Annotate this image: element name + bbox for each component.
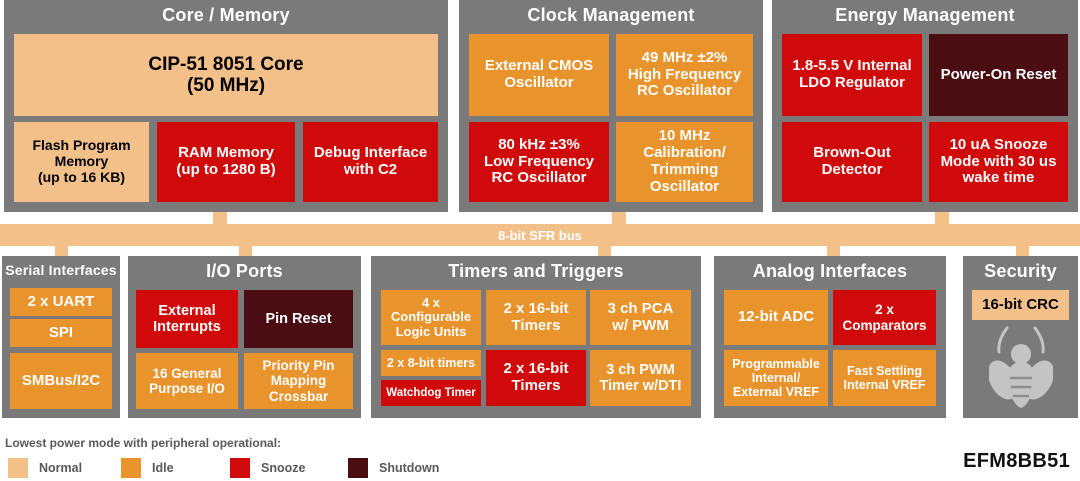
block-debug-interface-with-c2[interactable]: Debug Interfacewith C2 [303,122,438,202]
block-label: 80 kHz ±3%Low FrequencyRC Oscillator [484,137,594,187]
block-high-frequency-rc-oscillator[interactable]: 49 MHz ±2%High FrequencyRC Oscillator [616,34,753,116]
block-label: Debug Interfacewith C2 [314,145,427,179]
block-configurable-logic-units[interactable]: 4 xConfigurableLogic Units [381,290,481,345]
panel-io-ports: I/O Ports ExternalInterrupts Pin Reset 1… [128,256,361,418]
legend-item-normal: Normal [8,458,82,478]
block-label: Fast SettlingInternal VREF [844,364,926,392]
block-label: 16-bit CRC [982,297,1059,314]
block-external-cmos-oscillator[interactable]: External CMOSOscillator [469,34,609,116]
block-label: 2 x UART [28,294,95,311]
panel-title-serial-interfaces: Serial Interfaces [2,256,120,284]
block-label: 12-bit ADC [738,309,814,326]
panel-title-core-memory: Core / Memory [4,0,448,30]
block-label: CIP-51 8051 Core(50 MHz) [148,54,303,97]
block-label: Priority PinMappingCrossbar [262,358,334,403]
legend-label-idle: Idle [152,461,174,475]
block-label: Brown-OutDetector [813,145,890,179]
block-label: 3 ch PWMTimer w/DTI [600,362,682,394]
block-label: 16 GeneralPurpose I/O [149,366,225,396]
legend-swatch-normal [8,458,28,478]
block-2x-16bit-timers-snooze[interactable]: 2 x 16-bitTimers [486,350,586,406]
block-label: 2 x 16-bitTimers [503,361,568,395]
block-label: ProgrammableInternal/External VREF [732,357,820,399]
block-priority-pin-mapping-crossbar[interactable]: Priority PinMappingCrossbar [244,353,353,409]
block-label: 10 MHzCalibration/TrimmingOscillator [643,128,726,195]
block-label: 49 MHz ±2%High FrequencyRC Oscillator [628,50,741,100]
block-snooze-mode-wake-time[interactable]: 10 uA SnoozeMode with 30 uswake time [929,122,1068,202]
block-label: 4 xConfigurableLogic Units [391,296,471,340]
block-spi[interactable]: SPI [10,319,112,347]
legend-item-shutdown: Shutdown [348,458,439,478]
block-label: External CMOSOscillator [485,58,593,92]
block-12-bit-adc[interactable]: 12-bit ADC [724,290,828,345]
part-number: EFM8BB51 [963,450,1070,473]
block-internal-ldo-regulator[interactable]: 1.8-5.5 V InternalLDO Regulator [782,34,922,116]
block-label: Watchdog Timer [386,387,475,400]
block-pin-reset[interactable]: Pin Reset [244,290,353,348]
sfr-bus-label: 8-bit SFR bus [498,228,582,243]
panel-title-io-ports: I/O Ports [128,256,361,286]
block-3ch-pca-pwm[interactable]: 3 ch PCAw/ PWM [590,290,691,345]
legend-label-shutdown: Shutdown [379,461,439,475]
panel-title-clock-management: Clock Management [459,0,763,30]
block-calibration-trimming-oscillator[interactable]: 10 MHzCalibration/TrimmingOscillator [616,122,753,202]
block-2x-comparators[interactable]: 2 xComparators [833,290,936,345]
panel-title-security: Security [963,256,1078,286]
block-watchdog-timer[interactable]: Watchdog Timer [381,380,481,406]
block-3ch-pwm-timer-dti[interactable]: 3 ch PWMTimer w/DTI [590,350,691,406]
block-label: Flash ProgramMemory(up to 16 KB) [32,138,130,185]
block-label: SMBus/I2C [22,373,100,390]
sfr-bus: 8-bit SFR bus [0,224,1080,246]
block-2x-uart[interactable]: 2 x UART [10,288,112,316]
panel-serial-interfaces: Serial Interfaces 2 x UART SPI SMBus/I2C [2,256,120,418]
block-label: Power-On Reset [941,67,1057,84]
block-label: SPI [49,325,73,342]
panel-title-analog-interfaces: Analog Interfaces [714,256,946,286]
panel-timers-and-triggers: Timers and Triggers 4 xConfigurableLogic… [371,256,701,418]
bee-icon [989,326,1053,410]
legend-label-snooze: Snooze [261,461,305,475]
block-label: RAM Memory(up to 1280 B) [176,145,275,179]
block-low-frequency-rc-oscillator[interactable]: 80 kHz ±3%Low FrequencyRC Oscillator [469,122,609,202]
block-smbus-i2c[interactable]: SMBus/I2C [10,353,112,409]
panel-core-memory: Core / Memory CIP-51 8051 Core(50 MHz) F… [4,0,448,212]
panel-title-timers-and-triggers: Timers and Triggers [371,256,701,286]
block-label: 1.8-5.5 V InternalLDO Regulator [792,58,911,92]
legend-item-idle: Idle [121,458,174,478]
block-label: 2 x 16-bitTimers [503,301,568,335]
legend-swatch-snooze [230,458,250,478]
block-external-interrupts[interactable]: ExternalInterrupts [136,290,238,348]
legend-item-snooze: Snooze [230,458,305,478]
block-16-general-purpose-io[interactable]: 16 GeneralPurpose I/O [136,353,238,409]
block-label: ExternalInterrupts [153,303,221,335]
block-label: Pin Reset [265,311,331,327]
panel-security: Security 16-bit CRC [963,256,1078,418]
legend-swatch-shutdown [348,458,368,478]
block-ram-memory[interactable]: RAM Memory(up to 1280 B) [157,122,295,202]
block-cip-51-8051-core[interactable]: CIP-51 8051 Core(50 MHz) [14,34,438,116]
block-label: 2 xComparators [842,302,926,332]
block-16-bit-crc[interactable]: 16-bit CRC [972,290,1069,320]
block-fast-settling-internal-vref[interactable]: Fast SettlingInternal VREF [833,350,936,406]
legend-swatch-idle [121,458,141,478]
block-label: 3 ch PCAw/ PWM [608,301,674,335]
block-label: 2 x 8-bit timers [387,356,475,370]
block-2x-8bit-timers[interactable]: 2 x 8-bit timers [381,350,481,376]
panel-energy-management: Energy Management 1.8-5.5 V InternalLDO … [772,0,1078,212]
legend-caption: Lowest power mode with peripheral operat… [5,436,281,450]
block-flash-program-memory[interactable]: Flash ProgramMemory(up to 16 KB) [14,122,149,202]
legend-label-normal: Normal [39,461,82,475]
panel-clock-management: Clock Management External CMOSOscillator… [459,0,763,212]
block-brown-out-detector[interactable]: Brown-OutDetector [782,122,922,202]
block-power-on-reset[interactable]: Power-On Reset [929,34,1068,116]
block-label: 10 uA SnoozeMode with 30 uswake time [941,137,1057,187]
block-programmable-vref[interactable]: ProgrammableInternal/External VREF [724,350,828,406]
panel-analog-interfaces: Analog Interfaces 12-bit ADC 2 xComparat… [714,256,946,418]
panel-title-energy-management: Energy Management [772,0,1078,30]
block-2x-16bit-timers-idle[interactable]: 2 x 16-bitTimers [486,290,586,345]
